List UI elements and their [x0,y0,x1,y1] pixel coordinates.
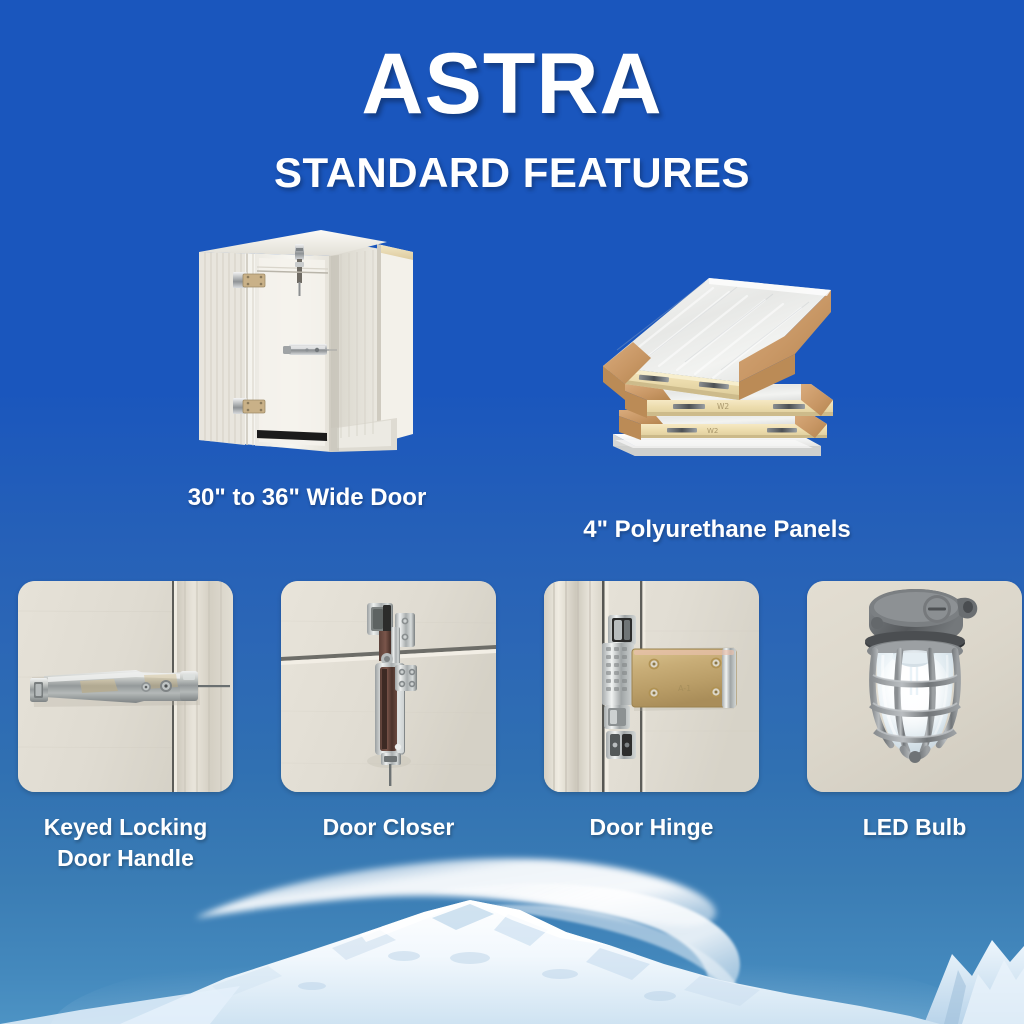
feature-item-door-hinge: A-1 Door Hinge [544,581,759,874]
door-closer-icon [281,581,496,792]
feature-caption: LED Bulb [807,812,1022,843]
feature-item-panels: W2 W2 [512,222,922,546]
page-subtitle: STANDARD FEATURES [0,149,1024,197]
feature-caption: 4" Polyurethane Panels [512,514,922,546]
door-hinge-bottom [233,398,265,414]
top-feature-row: 30" to 36" Wide Door [0,222,1024,546]
feature-caption: Door Closer [281,812,496,843]
feature-caption: Keyed Locking Door Handle [18,812,233,874]
svg-text:W2: W2 [717,402,729,411]
walk-in-cooler-door-icon [102,222,512,470]
door-hinge-top [233,272,265,288]
panel-top [603,278,831,400]
stacked-insulation-panels-icon: W2 W2 [512,254,922,502]
svg-text:A-1: A-1 [678,684,691,693]
feature-caption: 30" to 36" Wide Door [102,482,512,514]
feature-item-wide-door: 30" to 36" Wide Door [102,222,512,514]
page-title: ASTRA [0,41,1024,127]
bottom-feature-row: Keyed Locking Door Handle [18,581,1022,874]
door-hinge-icon: A-1 [544,581,759,792]
svg-text:W2: W2 [707,427,718,435]
header: ASTRA STANDARD FEATURES [0,0,1024,197]
feature-item-door-closer: Door Closer [281,581,496,874]
feature-item-led-bulb: LED Bulb [807,581,1022,874]
feature-item-keyed-locking-door-handle: Keyed Locking Door Handle [18,581,233,874]
led-bulb-vapor-fixture-icon [807,581,1022,792]
mountain-ridge-right [924,940,1024,1024]
keyed-locking-door-handle-icon [18,581,233,792]
feature-caption: Door Hinge [544,812,759,843]
